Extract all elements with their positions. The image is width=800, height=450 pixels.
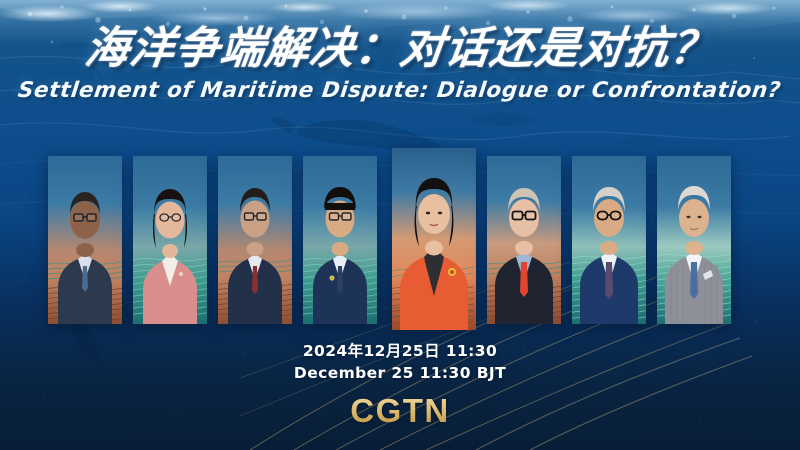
broadcast-footer: 2024年12月25日 11:30 December 25 11:30 BJT … [0,340,800,430]
participant-panel-4[interactable] [303,156,377,324]
participant-figure-8 [657,156,731,324]
participant-panel-2[interactable] [133,156,207,324]
airtime-chinese: 2024年12月25日 11:30 [0,340,800,362]
participant-panel-5-host[interactable] [392,148,476,330]
participant-panel-8[interactable] [657,156,731,324]
host-figure [392,148,476,330]
participant-figure-4 [303,156,377,324]
participant-figure-1 [48,156,122,324]
host-lapel-pin [448,268,456,276]
participant-panel-1[interactable] [48,156,122,324]
participant-panel-3[interactable] [218,156,292,324]
broadcast-promo-graphic: 海洋争端解决：对话还是对抗？ Settlement of Maritime Di… [0,0,800,450]
participant-figure-7 [572,156,646,324]
airtime-english: December 25 11:30 BJT [0,362,800,384]
participant-figure-2 [133,156,207,324]
participant-panel-6[interactable] [487,156,561,324]
participant-panel-7[interactable] [572,156,646,324]
participant-figure-6 [487,156,561,324]
participant-figure-3 [218,156,292,324]
cgtn-logo[interactable]: CGTN [350,392,450,430]
